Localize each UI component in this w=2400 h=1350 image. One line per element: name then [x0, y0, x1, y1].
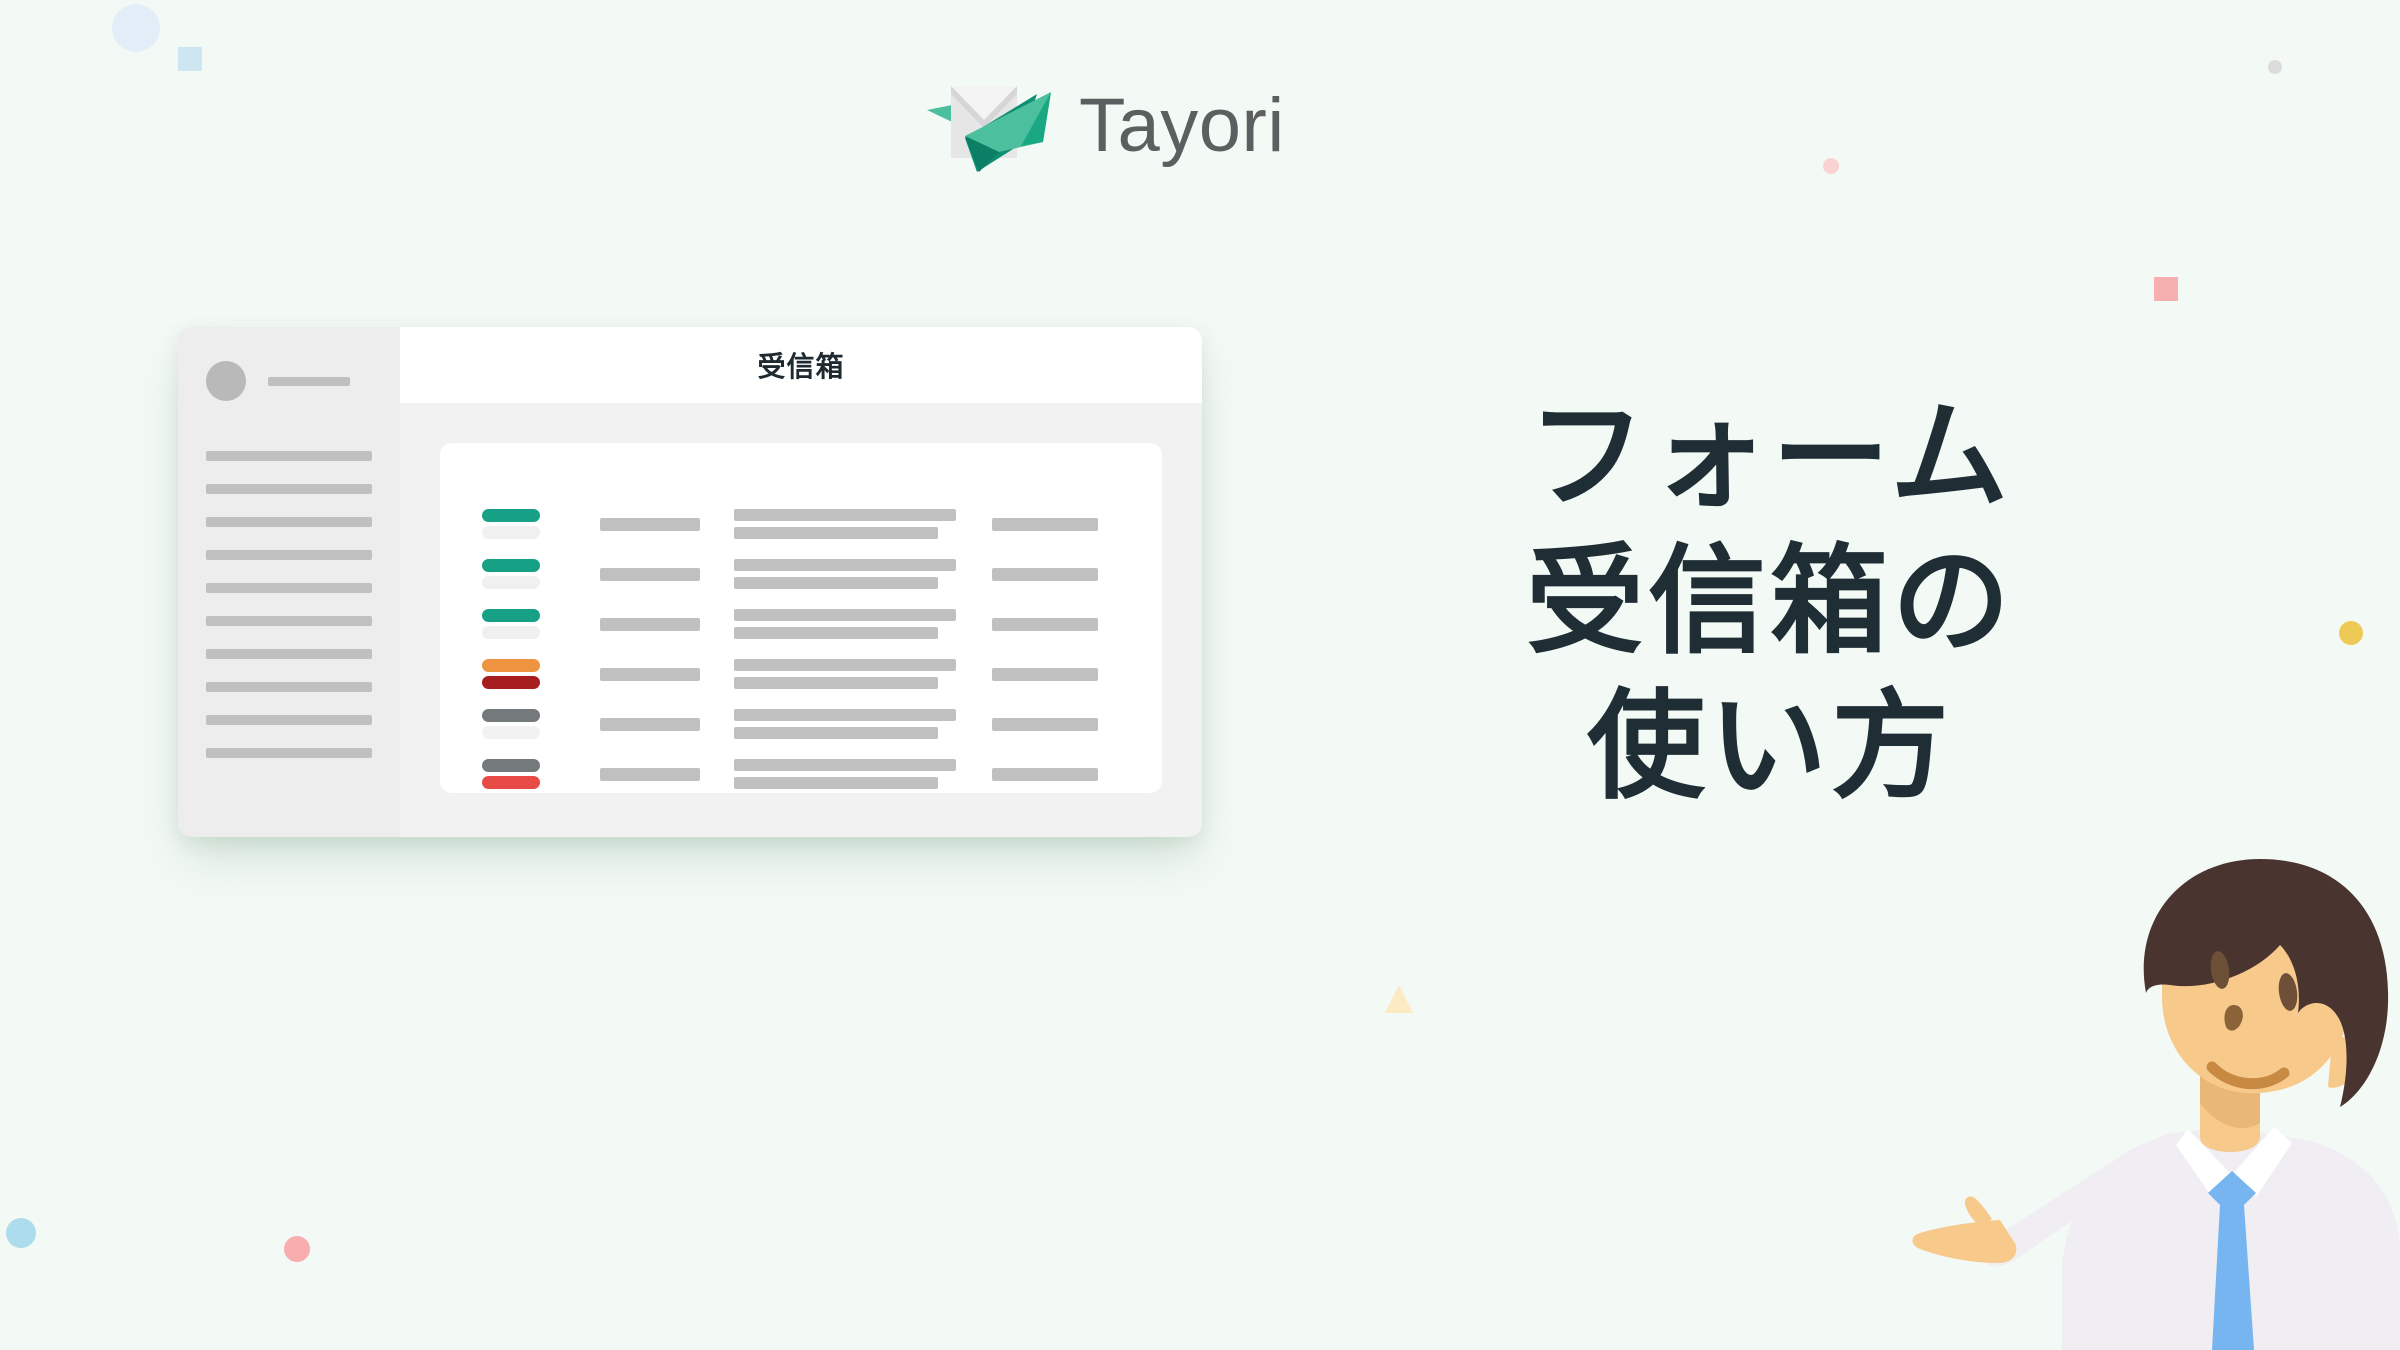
deco-dot-pink-top [1823, 158, 1839, 174]
row-cell-name [600, 718, 734, 731]
headline-line-3: 使い方 [1440, 675, 2100, 820]
table-row[interactable] [440, 549, 1162, 599]
status-badge-primary[interactable] [482, 659, 540, 672]
placeholder-bar [734, 677, 938, 689]
tayori-logo: Tayori [925, 72, 1285, 180]
row-cell-date [992, 568, 1120, 581]
sidebar-user-block[interactable] [206, 361, 372, 401]
placeholder-bar [992, 718, 1098, 731]
table-row[interactable] [440, 699, 1162, 749]
placeholder-bar [992, 568, 1098, 581]
row-tags [482, 505, 600, 543]
mockup-body [400, 403, 1202, 837]
status-badge-secondary[interactable] [482, 726, 540, 739]
row-tags [482, 655, 600, 693]
status-badge-secondary[interactable] [482, 676, 540, 689]
avatar [206, 361, 246, 401]
deco-square-pink-right [2154, 277, 2178, 301]
row-cell-date [992, 768, 1120, 781]
row-tags [482, 705, 600, 743]
deco-dot-gray-topright [2268, 60, 2282, 74]
placeholder-bar [600, 568, 700, 581]
placeholder-bar [992, 618, 1098, 631]
placeholder-bar [600, 618, 700, 631]
table-row[interactable] [440, 749, 1162, 799]
row-tags [482, 555, 600, 593]
placeholder-bar [600, 668, 700, 681]
sidebar-nav-item-5[interactable] [206, 583, 372, 593]
placeholder-bar [600, 518, 700, 531]
table-row[interactable] [440, 499, 1162, 549]
row-cell-date [992, 618, 1120, 631]
table-row[interactable] [440, 599, 1162, 649]
deco-circle-yellow-right [2339, 621, 2363, 645]
placeholder-bar [992, 768, 1098, 781]
inbox-list-card [440, 443, 1162, 793]
placeholder-bar [734, 509, 956, 521]
row-cell-date [992, 518, 1120, 531]
envelope-paper-plane-logo-icon [925, 72, 1057, 180]
sidebar-nav-item-9[interactable] [206, 715, 372, 725]
status-badge-primary[interactable] [482, 559, 540, 572]
deco-circle-blue-topleft [112, 4, 160, 52]
placeholder-bar [734, 627, 938, 639]
app-mockup-window: 受信箱 [178, 327, 1202, 837]
businessman-illustration [1840, 845, 2400, 1350]
status-badge-secondary[interactable] [482, 626, 540, 639]
row-tags [482, 605, 600, 643]
row-tags [482, 755, 600, 793]
row-cell-name [600, 668, 734, 681]
status-badge-primary[interactable] [482, 509, 540, 522]
row-cell-name [600, 768, 734, 781]
placeholder-bar [734, 559, 956, 571]
status-badge-secondary[interactable] [482, 526, 540, 539]
sidebar-nav-item-8[interactable] [206, 682, 372, 692]
deco-circle-pink-bottom [284, 1236, 310, 1262]
mockup-sidebar [178, 327, 400, 837]
page-title: 受信箱 [757, 345, 844, 385]
row-cell-content [734, 653, 992, 695]
row-cell-content [734, 503, 992, 545]
placeholder-bar [600, 718, 700, 731]
status-badge-primary[interactable] [482, 609, 540, 622]
sidebar-nav-item-10[interactable] [206, 748, 372, 758]
placeholder-bar [734, 577, 938, 589]
row-cell-name [600, 568, 734, 581]
headline: フォーム受信箱の使い方 [1440, 385, 2100, 820]
status-badge-secondary[interactable] [482, 576, 540, 589]
headline-line-2: 受信箱の [1440, 530, 2100, 675]
sidebar-nav-item-1[interactable] [206, 451, 372, 461]
status-badge-primary[interactable] [482, 759, 540, 772]
status-badge-primary[interactable] [482, 709, 540, 722]
status-badge-secondary[interactable] [482, 776, 540, 789]
row-cell-date [992, 668, 1120, 681]
sidebar-nav-item-4[interactable] [206, 550, 372, 560]
sidebar-nav-list [206, 451, 372, 758]
sidebar-user-name-placeholder [268, 377, 350, 386]
placeholder-bar [992, 518, 1098, 531]
row-cell-name [600, 618, 734, 631]
placeholder-bar [734, 727, 938, 739]
headline-line-1: フォーム [1440, 385, 2100, 530]
placeholder-bar [734, 659, 956, 671]
deco-triangle-yellow [1385, 985, 1413, 1013]
row-cell-content [734, 553, 992, 595]
row-cell-date [992, 718, 1120, 731]
table-row[interactable] [440, 649, 1162, 699]
mockup-main-panel: 受信箱 [400, 327, 1202, 837]
sidebar-nav-item-6[interactable] [206, 616, 372, 626]
placeholder-bar [734, 709, 956, 721]
placeholder-bar [734, 527, 938, 539]
sidebar-nav-item-3[interactable] [206, 517, 372, 527]
row-cell-name [600, 518, 734, 531]
placeholder-bar [992, 668, 1098, 681]
placeholder-bar [600, 768, 700, 781]
placeholder-bar [734, 609, 956, 621]
mockup-header: 受信箱 [400, 327, 1202, 403]
sidebar-nav-item-7[interactable] [206, 649, 372, 659]
deco-circle-blue-bottomleft [6, 1218, 36, 1248]
sidebar-nav-item-2[interactable] [206, 484, 372, 494]
row-cell-content [734, 753, 992, 795]
deco-square-blue-topleft [178, 47, 202, 71]
row-cell-content [734, 603, 992, 645]
placeholder-bar [734, 777, 938, 789]
logo-wordmark: Tayori [1079, 88, 1285, 164]
placeholder-bar [734, 759, 956, 771]
row-cell-content [734, 703, 992, 745]
